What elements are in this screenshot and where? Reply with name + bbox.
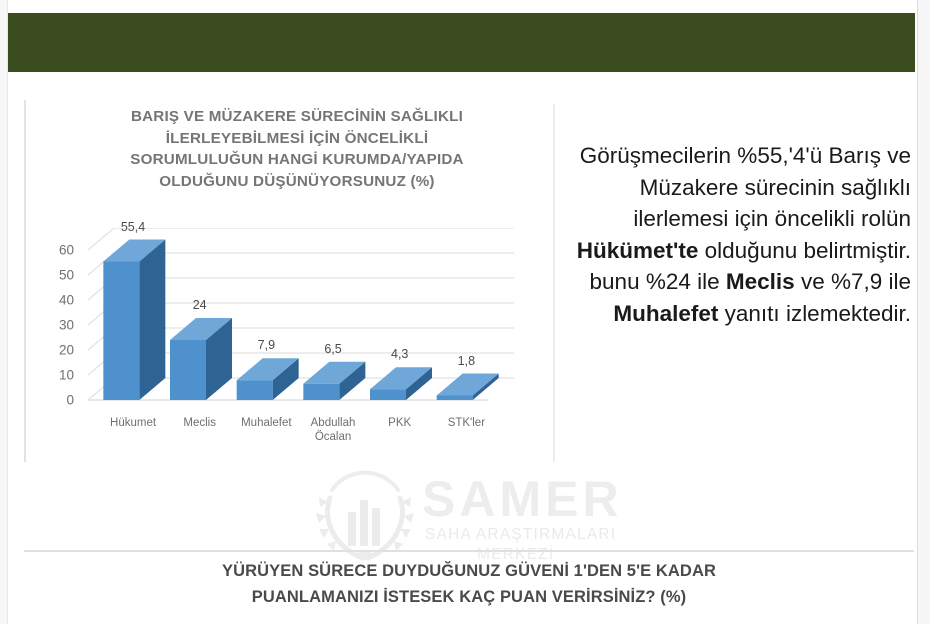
y-tick-label-60: 60 [26,243,74,258]
category-label-6: STK'ler [424,416,509,430]
paragraph-segment-6: Muhalefet [613,301,718,326]
bar-front-face [103,262,139,401]
bottom-heading-line-1: YÜRÜYEN SÜRECE DUYDUĞUNUZ GÜVENİ 1'DEN 5… [24,558,914,584]
bar-5 [370,367,432,400]
y-axis-labels: 0102030405060 [26,228,74,408]
bar-front-face [303,384,339,400]
y-tick-label-0: 0 [26,393,74,408]
paragraph-segment-1: Görüşmecilerin %55,'4'ü Barış ve Müzaker… [580,143,911,231]
data-label-3: 7,9 [258,338,275,352]
left-edge-rail [0,0,8,624]
chart-title-line-1: BARIŞ VE MÜZAKERE SÜRECİNİN SAĞLIKLI [62,106,532,128]
category-label-line: STK'ler [424,416,509,430]
samer-logo-icon [310,468,420,572]
slide-canvas: BARIŞ VE MÜZAKERE SÜRECİNİN SAĞLIKLIİLER… [0,0,930,624]
y-tick-label-30: 30 [26,318,74,333]
data-label-6: 1,8 [458,354,475,368]
chart-title-line-4: OLDUĞUNU DÜŞÜNÜYORSUNUZ (%) [62,171,532,193]
chart-title: BARIŞ VE MÜZAKERE SÜRECİNİN SAĞLIKLIİLER… [62,106,532,192]
bar-front-face [370,389,406,400]
bar-2 [170,318,232,400]
bar-1 [103,240,165,401]
summary-text-panel: Görüşmecilerin %55,'4'ü Barış ve Müzaker… [553,104,915,462]
paragraph-segment-2: Hükümet'te [577,238,699,263]
data-label-4: 6,5 [324,342,341,356]
chart-plot-area: 0102030405060 55,4247,96,54,31,8 Hükumet… [26,228,555,462]
bar-3 [237,358,299,400]
y-tick-label-40: 40 [26,293,74,308]
watermark-subtitle-1: SAHA ARAŞTIRMALARI [425,526,616,544]
category-label-line: Öcalan [291,430,376,444]
chart-panel: BARIŞ VE MÜZAKERE SÜRECİNİN SAĞLIKLIİLER… [24,100,553,462]
header-band [8,13,915,72]
data-label-1: 55,4 [121,220,145,234]
bar-front-face [237,380,273,400]
y-tick-label-10: 10 [26,368,74,383]
data-label-5: 4,3 [391,347,408,361]
bottom-divider [24,550,914,552]
bar-4 [303,362,365,400]
y-tick-label-50: 50 [26,268,74,283]
bar-front-face [170,340,206,400]
bottom-heading-line-2: PUANLAMANIZI İSTESEK KAÇ PUAN VERİRSİNİZ… [24,584,914,610]
bottom-question-heading: YÜRÜYEN SÜRECE DUYDUĞUNUZ GÜVENİ 1'DEN 5… [24,558,914,611]
paragraph-segment-7: yanıtı izlemektedir. [718,301,911,326]
chart-title-line-3: SORUMLULUĞUN HANGİ KURUMDA/YAPIDA [62,149,532,171]
summary-paragraph: Görüşmecilerin %55,'4'ü Barış ve Müzaker… [563,140,911,329]
bar-side-face [139,240,165,401]
bar-front-face [437,396,473,401]
y-tick-label-20: 20 [26,343,74,358]
paragraph-segment-5: ve %7,9 ile [795,269,911,294]
right-edge-rail [917,0,930,624]
data-label-2: 24 [193,298,207,312]
watermark-brand: SAMER [422,470,623,528]
chart-title-line-2: İLERLEYEBİLMESİ İÇİN ÖNCELİKLİ [62,128,532,150]
gridline-connector-60 [88,228,114,250]
paragraph-segment-4: Meclis [726,269,795,294]
